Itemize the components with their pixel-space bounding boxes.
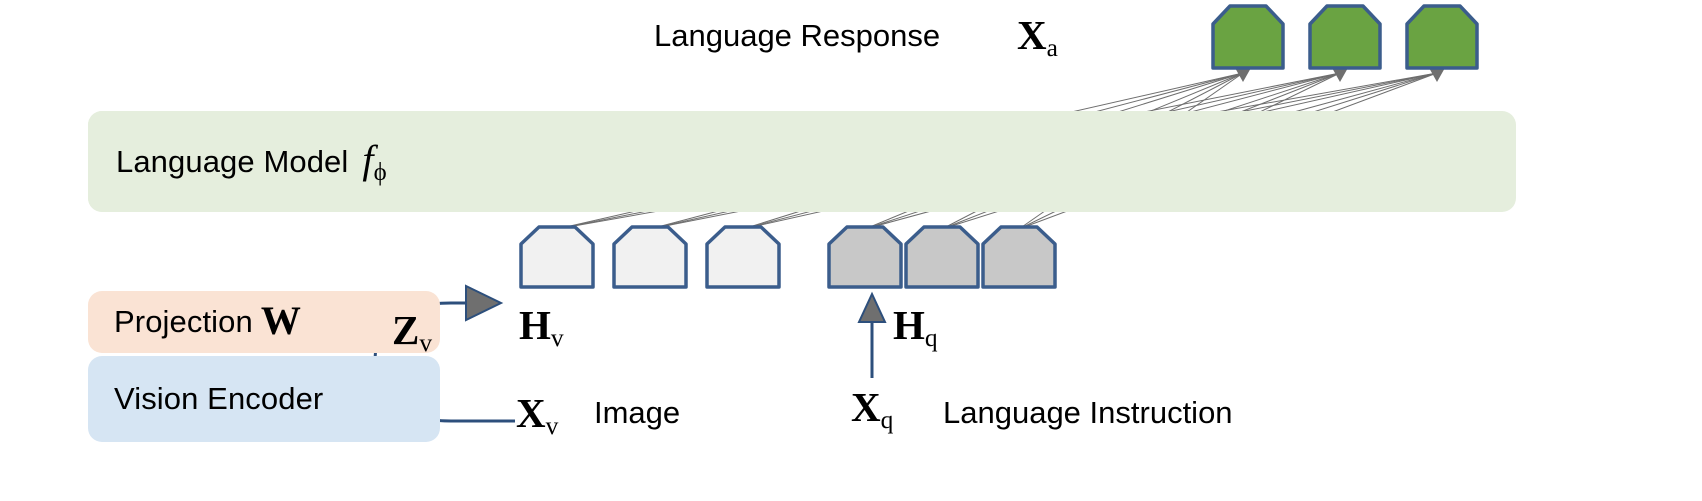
x-q-label: Xq [851, 383, 893, 435]
diagram-canvas: Language Model fϕ Projection W Vision En… [0, 0, 1702, 501]
output-token-xa-3[interactable] [1405, 4, 1479, 70]
image-label: Image [594, 395, 680, 431]
token-shape-icon [981, 225, 1057, 289]
h-q-subscript: q [925, 324, 938, 352]
x-v-subscript: v [546, 412, 559, 440]
input-token-hv-3[interactable] [705, 225, 781, 289]
x-v-label: Xv [516, 389, 558, 441]
language-response-label: Language Response [654, 18, 940, 54]
vision-encoder-bar[interactable]: Vision Encoder [88, 356, 440, 442]
token-shape-icon [705, 225, 781, 289]
input-token-hq-2[interactable] [904, 225, 980, 289]
token-shape-icon [1308, 4, 1382, 70]
vision-encoder-label: Vision Encoder [114, 381, 323, 417]
x-a-label: Xa [1017, 11, 1058, 63]
output-token-xa-2[interactable] [1308, 4, 1382, 70]
projection-symbol-w: W [261, 301, 301, 341]
token-shape-icon [827, 225, 903, 289]
input-token-hv-1[interactable] [519, 225, 595, 289]
projection-label: Projection [114, 304, 253, 340]
language-model-symbol-subscript: ϕ [374, 159, 387, 186]
language-model-bar[interactable]: Language Model fϕ [88, 111, 1396, 212]
token-shape-icon [1405, 4, 1479, 70]
h-v-label: Hv [519, 301, 564, 353]
input-token-hv-2[interactable] [612, 225, 688, 289]
input-token-hq-1[interactable] [827, 225, 903, 289]
z-v-label: Zv [392, 306, 432, 358]
output-token-xa-1[interactable] [1211, 4, 1285, 70]
x-a-subscript: a [1047, 34, 1058, 62]
input-token-hq-3[interactable] [981, 225, 1057, 289]
h-q-label: Hq [893, 301, 938, 353]
language-model-symbol: fϕ [362, 136, 386, 187]
projection-bar[interactable]: Projection W [88, 291, 440, 353]
x-q-subscript: q [881, 406, 894, 434]
h-v-subscript: v [551, 324, 564, 352]
token-shape-icon [519, 225, 595, 289]
token-shape-icon [1211, 4, 1285, 70]
token-shape-icon [904, 225, 980, 289]
language-instruction-label: Language Instruction [943, 395, 1233, 431]
token-shape-icon [612, 225, 688, 289]
z-v-subscript: v [419, 329, 432, 357]
language-model-label: Language Model [116, 144, 348, 180]
